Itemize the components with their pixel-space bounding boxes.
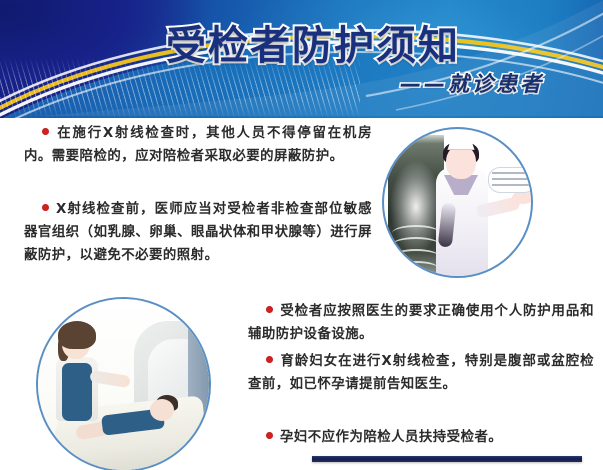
- bullet-text-2: X射线检查前，医师应当对受检者非检查部位敏感器官组织（如乳腺、卵巢、眼晶状体和甲…: [24, 202, 372, 263]
- bullet-item-2: X射线检查前，医师应当对受检者非检查部位敏感器官组织（如乳腺、卵巢、眼晶状体和甲…: [24, 198, 372, 267]
- bullet-text-5: 孕妇不应作为陪检人员扶持受检者。: [280, 430, 502, 445]
- footer-bar: [312, 456, 582, 462]
- page-title: 受检者防护须知: [148, 22, 478, 70]
- nurse-head: [446, 145, 476, 179]
- nurse-scene: [384, 129, 531, 276]
- bullet-text-4: 育龄妇女在进行X射线检查，特别是腹部或盆腔检查前，如已怀孕请提前告知医生。: [248, 354, 594, 392]
- bullet-dot-icon: [266, 432, 273, 439]
- bullet-item-1: 在施行X射线检查时，其他人员不得停留在机房内。需要陪检的，应对陪检者采取必要的屏…: [24, 122, 372, 168]
- bullet-dot-icon: [42, 128, 49, 135]
- header-banner: 受检者防护须知 ——就诊患者: [0, 0, 603, 118]
- bullet-text-3: 受检者应按照医生的要求正确使用个人防护用品和辅助防护设备设施。: [248, 304, 594, 342]
- xray-rib: [394, 261, 438, 275]
- bullet-dot-icon: [266, 356, 273, 363]
- bullet-text-1: 在施行X射线检查时，其他人员不得停留在机房内。需要陪检的，应对陪检者采取必要的屏…: [24, 126, 372, 164]
- poster-root: 受检者防护须知 ——就诊患者 在施行X射线检查时，其他人员不得停留在机房内。需要…: [0, 0, 603, 470]
- technician-lead-apron: [62, 363, 92, 421]
- patient-head: [150, 399, 174, 421]
- technician-hair: [58, 321, 96, 349]
- speech-bubble-text: [492, 172, 530, 186]
- bullet-dot-icon: [266, 306, 273, 313]
- bullet-dot-icon: [42, 204, 49, 211]
- page-subtitle: ——就诊患者: [400, 70, 590, 98]
- bullet-item-4: 育龄妇女在进行X射线检查，特别是腹部或盆腔检查前，如已怀孕请提前告知医生。: [248, 350, 594, 396]
- nurse-xray-figure: [382, 127, 533, 278]
- ct-scan-figure: [36, 297, 211, 470]
- scan-scene: [38, 299, 209, 470]
- bullet-item-5: 孕妇不应作为陪检人员扶持受检者。: [248, 426, 594, 449]
- bullet-item-3: 受检者应按照医生的要求正确使用个人防护用品和辅助防护设备设施。: [248, 300, 594, 346]
